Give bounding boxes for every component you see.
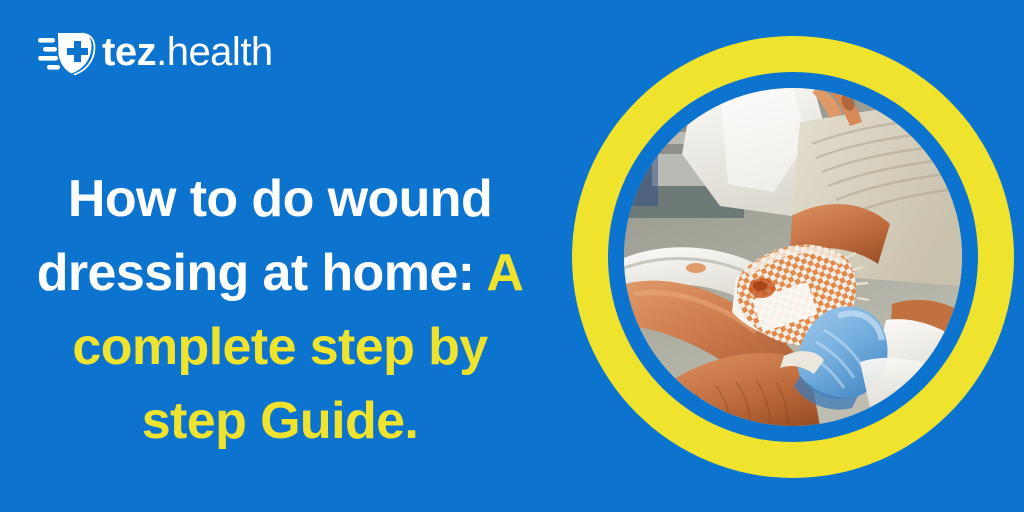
headline-line-2-accent: A	[486, 244, 523, 302]
wound-dressing-photo	[624, 88, 962, 426]
tez-health-shield-speed-icon	[38, 29, 96, 75]
headline: How to do wound dressing at home: A comp…	[10, 162, 550, 458]
medallion-photo-frame	[624, 88, 962, 426]
brand-wordmark-light: .health	[156, 30, 273, 74]
brand-wordmark: tez.health	[102, 29, 273, 75]
promo-banner: tez.health How to do wound dressing at h…	[0, 0, 1024, 512]
brand-wordmark-strong: tez	[102, 30, 156, 74]
photo-medallion	[572, 36, 1014, 478]
headline-line-2: dressing at home:	[37, 244, 487, 302]
headline-line-1: How to do wound	[68, 170, 492, 228]
headline-line-4: step Guide.	[142, 392, 419, 450]
headline-line-3: complete step by	[72, 318, 487, 376]
brand-logo[interactable]: tez.health	[38, 26, 273, 78]
